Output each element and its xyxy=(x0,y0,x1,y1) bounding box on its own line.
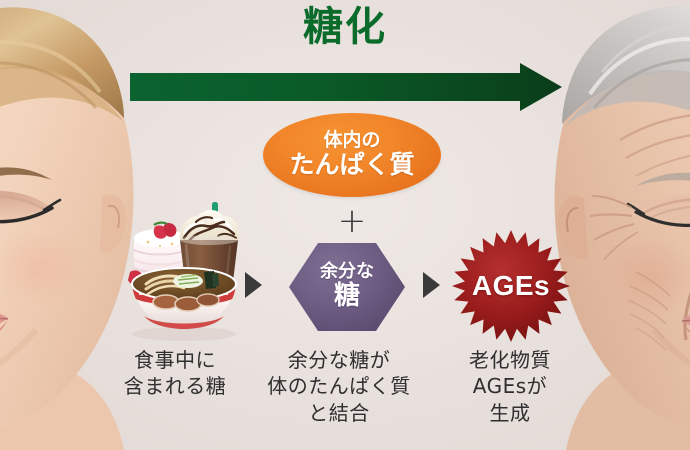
step-arrow-2-icon xyxy=(423,272,440,298)
caption-line: 体のたんぱく質 xyxy=(249,373,429,399)
glycation-infographic: 糖化 xyxy=(0,0,690,450)
caption-line: 食事中に xyxy=(108,347,242,373)
plus-operator-icon: + xyxy=(333,204,371,238)
glycation-progress-arrow xyxy=(130,63,562,111)
protein-badge: 体内の たんぱく質 xyxy=(263,113,441,197)
caption-line: 含まれる糖 xyxy=(108,373,242,399)
caption-line: 老化物質 xyxy=(440,347,580,373)
protein-badge-line-1: 体内の xyxy=(323,131,380,151)
sugar-badge: 余分な 糖 xyxy=(289,243,405,331)
caption-binding: 余分な糖が 体のたんぱく質 と結合 xyxy=(249,347,429,426)
ages-badge-label: AGEs xyxy=(452,230,570,342)
caption-line: と結合 xyxy=(249,400,429,426)
ages-badge: AGEs xyxy=(452,230,570,342)
page-title: 糖化 xyxy=(0,4,690,50)
sugar-badge-line-2: 糖 xyxy=(334,282,360,311)
sugar-badge-line-1: 余分な xyxy=(320,263,374,282)
caption-line: AGEsが xyxy=(440,373,580,399)
step-arrow-1-icon xyxy=(245,272,262,298)
caption-line: 余分な糖が xyxy=(249,347,429,373)
food-photos xyxy=(126,198,244,342)
protein-badge-line-2: たんぱく質 xyxy=(289,151,414,180)
caption-line: 生成 xyxy=(440,400,580,426)
caption-sugar-intake: 食事中に 含まれる糖 xyxy=(108,347,242,400)
caption-ages: 老化物質 AGEsが 生成 xyxy=(440,347,580,426)
